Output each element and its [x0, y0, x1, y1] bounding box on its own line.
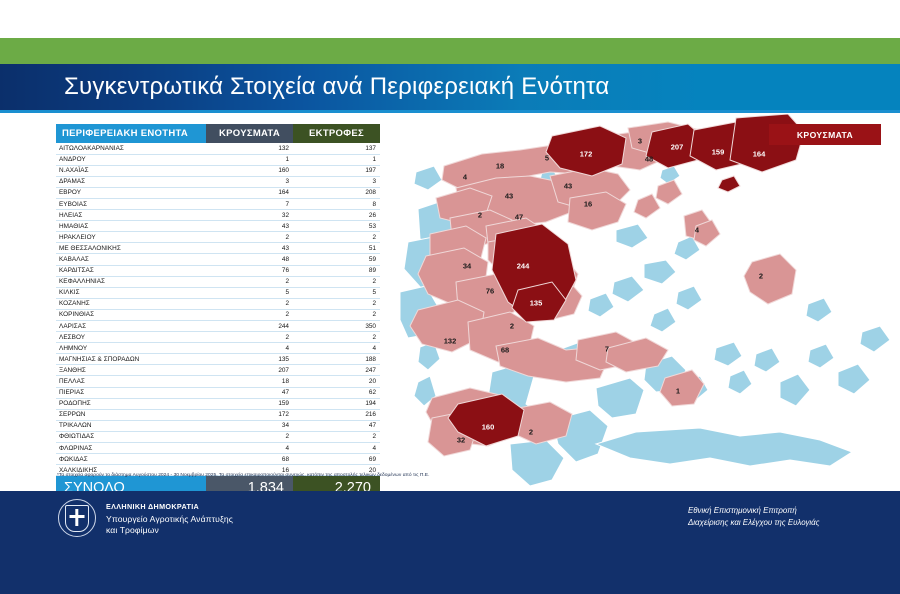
cell-region-name: ΗΜΑΘΙΑΣ	[56, 221, 206, 232]
legend-label: ΚΡΟΥΣΜΑΤΑ	[797, 130, 853, 140]
table-header: ΠΕΡΙΦΕΡΕΙΑΚΗ ΕΝΟΤΗΤΑ ΚΡΟΥΣΜΑΤΑ ΕΚΤΡΟΦΕΣ	[56, 124, 380, 143]
cell-cases: 5	[206, 287, 293, 298]
cell-cases: 34	[206, 420, 293, 431]
table-body: ΑΙΤΩΛΟΑΚΑΡΝΑΝΙΑΣ132137ΑΝΔΡΟΥ11Ν.ΑΧΑΪΑΣ16…	[56, 143, 380, 476]
cell-farms: 216	[293, 409, 380, 420]
cell-farms: 3	[293, 176, 380, 187]
cell-region-name: ΚΑΡΔΙΤΣΑΣ	[56, 265, 206, 276]
cell-cases: 172	[206, 409, 293, 420]
cell-region-name: ΑΝΔΡΟΥ	[56, 154, 206, 165]
column-header-farms: ΕΚΤΡΟΦΕΣ	[293, 124, 380, 143]
table-row: ΡΟΔΟΠΗΣ159194	[56, 398, 380, 409]
table-row: ΚΟΖΑΝΗΣ22	[56, 298, 380, 309]
cell-farms: 2	[293, 332, 380, 343]
cell-region-name: ΚΙΛΚΙΣ	[56, 287, 206, 298]
committee-line-1: Εθνική Επιστημονική Επιτροπή	[688, 505, 819, 517]
cell-cases: 135	[206, 354, 293, 365]
summary-table: ΠΕΡΙΦΕΡΕΙΑΚΗ ΕΝΟΤΗΤΑ ΚΡΟΥΣΜΑΤΑ ΕΚΤΡΟΦΕΣ …	[56, 124, 380, 500]
cell-region-name: ΜΑΓΝΗΣΙΑΣ & ΣΠΟΡΑΔΩΝ	[56, 354, 206, 365]
cell-cases: 48	[206, 254, 293, 265]
cell-cases: 18	[206, 376, 293, 387]
column-header-region: ΠΕΡΙΦΕΡΕΙΑΚΗ ΕΝΟΤΗΤΑ	[56, 124, 206, 143]
table-row: ΚΕΦΑΛΛΗΝΙΑΣ22	[56, 276, 380, 287]
cell-region-name: ΑΙΤΩΛΟΑΚΑΡΝΑΝΙΑΣ	[56, 143, 206, 154]
cell-farms: 2	[293, 298, 380, 309]
cell-farms: 2	[293, 309, 380, 320]
cell-farms: 197	[293, 165, 380, 176]
cell-farms: 137	[293, 143, 380, 154]
ministry-texts: ΕΛΛΗΝΙΚΗ ΔΗΜΟΚΡΑΤΙΑ Υπουργείο Αγροτικής …	[106, 499, 233, 536]
cell-cases: 7	[206, 198, 293, 209]
cell-region-name: ΛΗΜΝΟΥ	[56, 343, 206, 354]
cell-farms: 69	[293, 454, 380, 465]
table-row: ΗΜΑΘΙΑΣ4353	[56, 221, 380, 232]
page-footer: ΕΛΛΗΝΙΚΗ ΔΗΜΟΚΡΑΤΙΑ Υπουργείο Αγροτικής …	[0, 491, 900, 594]
cell-region-name: ΣΕΡΡΩΝ	[56, 409, 206, 420]
cell-region-name: ΛΑΡΙΣΑΣ	[56, 321, 206, 332]
cell-farms: 350	[293, 321, 380, 332]
cell-cases: 159	[206, 398, 293, 409]
cell-farms: 194	[293, 398, 380, 409]
cell-cases: 32	[206, 210, 293, 221]
cell-region-name: ΗΡΑΚΛΕΙΟΥ	[56, 232, 206, 243]
table-row: Ν.ΑΧΑΪΑΣ160197	[56, 165, 380, 176]
table-row: ΚΑΒΑΛΑΣ4859	[56, 254, 380, 265]
cell-cases: 244	[206, 321, 293, 332]
cell-cases: 2	[206, 332, 293, 343]
ministry-line-1: Υπουργείο Αγροτικής Ανάπτυξης	[106, 514, 233, 525]
table-header-row: ΠΕΡΙΦΕΡΕΙΑΚΗ ΕΝΟΤΗΤΑ ΚΡΟΥΣΜΑΤΑ ΕΚΤΡΟΦΕΣ	[56, 124, 380, 143]
table-row: ΜΕ ΘΕΣΣΑΛΟΝΙΚΗΣ4351	[56, 243, 380, 254]
cell-region-name: ΦΛΩΡΙΝΑΣ	[56, 443, 206, 454]
committee-line-2: Διαχείρισης και Ελέγχου της Ευλογιάς	[688, 517, 819, 529]
cell-cases: 2	[206, 309, 293, 320]
table-row: ΜΑΓΝΗΣΙΑΣ & ΣΠΟΡΑΔΩΝ135188	[56, 354, 380, 365]
table-row: ΦΩΚΙΔΑΣ6869	[56, 454, 380, 465]
ministry-block: ΕΛΛΗΝΙΚΗ ΔΗΜΟΚΡΑΤΙΑ Υπουργείο Αγροτικής …	[58, 499, 233, 537]
cell-region-name: ΡΟΔΟΠΗΣ	[56, 398, 206, 409]
map-legend-cases: ΚΡΟΥΣΜΑΤΑ	[769, 124, 881, 145]
cell-cases: 164	[206, 187, 293, 198]
greece-map: 3172207159164485184434316247434244276135…	[400, 114, 900, 489]
cell-cases: 1	[206, 154, 293, 165]
table-row: ΕΥΒΟΙΑΣ78	[56, 198, 380, 209]
cell-cases: 207	[206, 365, 293, 376]
table-row: ΑΙΤΩΛΟΑΚΑΡΝΑΝΙΑΣ132137	[56, 143, 380, 154]
republic-label: ΕΛΛΗΝΙΚΗ ΔΗΜΟΚΡΑΤΙΑ	[106, 502, 233, 511]
cell-farms: 4	[293, 343, 380, 354]
cell-cases: 2	[206, 298, 293, 309]
cell-farms: 2	[293, 276, 380, 287]
cell-farms: 208	[293, 187, 380, 198]
cell-cases: 2	[206, 276, 293, 287]
greece-map-svg	[400, 114, 900, 489]
cell-farms: 5	[293, 287, 380, 298]
cell-farms: 20	[293, 376, 380, 387]
cell-region-name: ΦΘΙΩΤΙΔΑΣ	[56, 431, 206, 442]
cell-region-name: ΠΕΛΛΑΣ	[56, 376, 206, 387]
cell-region-name: Ν.ΑΧΑΪΑΣ	[56, 165, 206, 176]
cell-farms: 47	[293, 420, 380, 431]
table-row: ΞΑΝΘΗΣ207247	[56, 365, 380, 376]
cell-region-name: ΤΡΙΚΑΛΩΝ	[56, 420, 206, 431]
cell-region-name: ΞΑΝΘΗΣ	[56, 365, 206, 376]
top-green-bar	[0, 38, 900, 64]
cell-cases: 76	[206, 265, 293, 276]
table-row: ΛΕΣΒΟΥ22	[56, 332, 380, 343]
cell-cases: 68	[206, 454, 293, 465]
table-row: ΚΙΛΚΙΣ55	[56, 287, 380, 298]
cell-farms: 26	[293, 210, 380, 221]
cell-farms: 247	[293, 365, 380, 376]
table-row: ΣΕΡΡΩΝ172216	[56, 409, 380, 420]
cell-region-name: ΚΑΒΑΛΑΣ	[56, 254, 206, 265]
table-row: ΦΘΙΩΤΙΔΑΣ22	[56, 431, 380, 442]
cell-region-name: ΔΡΑΜΑΣ	[56, 176, 206, 187]
table-row: ΠΙΕΡΙΑΣ4762	[56, 387, 380, 398]
cell-farms: 53	[293, 221, 380, 232]
cell-cases: 132	[206, 143, 293, 154]
table-row: ΔΡΑΜΑΣ33	[56, 176, 380, 187]
cell-region-name: ΗΛΕΙΑΣ	[56, 210, 206, 221]
cell-region-name: ΕΥΒΟΙΑΣ	[56, 198, 206, 209]
cell-farms: 89	[293, 265, 380, 276]
cell-region-name: ΚΕΦΑΛΛΗΝΙΑΣ	[56, 276, 206, 287]
table-row: ΛΑΡΙΣΑΣ244350	[56, 321, 380, 332]
table-row: ΠΕΛΛΑΣ1820	[56, 376, 380, 387]
column-header-cases: ΚΡΟΥΣΜΑΤΑ	[206, 124, 293, 143]
table-row: ΗΡΑΚΛΕΙΟΥ22	[56, 232, 380, 243]
cell-cases: 160	[206, 165, 293, 176]
greek-republic-emblem-icon	[58, 499, 96, 537]
cell-cases: 43	[206, 221, 293, 232]
cell-farms: 1	[293, 154, 380, 165]
table-row: ΛΗΜΝΟΥ44	[56, 343, 380, 354]
cell-region-name: ΦΩΚΙΔΑΣ	[56, 454, 206, 465]
cell-farms: 2	[293, 232, 380, 243]
cell-cases: 43	[206, 243, 293, 254]
cell-region-name: ΠΙΕΡΙΑΣ	[56, 387, 206, 398]
cell-farms: 62	[293, 387, 380, 398]
table-row: ΕΒΡΟΥ164208	[56, 187, 380, 198]
title-underline	[0, 110, 900, 113]
cell-farms: 8	[293, 198, 380, 209]
ministry-line-2: και Τροφίμων	[106, 525, 233, 536]
table-row: ΤΡΙΚΑΛΩΝ3447	[56, 420, 380, 431]
cell-region-name: ΚΟΖΑΝΗΣ	[56, 298, 206, 309]
page-title: Συγκεντρωτικά Στοιχεία ανά Περιφερειακή …	[64, 73, 609, 101]
table-row: ΚΟΡΙΝΘΙΑΣ22	[56, 309, 380, 320]
cell-region-name: ΜΕ ΘΕΣΣΑΛΟΝΙΚΗΣ	[56, 243, 206, 254]
summary-table-container: ΠΕΡΙΦΕΡΕΙΑΚΗ ΕΝΟΤΗΤΑ ΚΡΟΥΣΜΑΤΑ ΕΚΤΡΟΦΕΣ …	[56, 124, 380, 500]
cell-farms: 188	[293, 354, 380, 365]
committee-block: Εθνική Επιστημονική Επιτροπή Διαχείρισης…	[688, 505, 819, 528]
table-row: ΑΝΔΡΟΥ11	[56, 154, 380, 165]
cell-cases: 47	[206, 387, 293, 398]
cell-farms: 51	[293, 243, 380, 254]
cell-farms: 59	[293, 254, 380, 265]
cell-cases: 4	[206, 343, 293, 354]
cell-cases: 2	[206, 431, 293, 442]
cell-region-name: ΛΕΣΒΟΥ	[56, 332, 206, 343]
table-row: ΦΛΩΡΙΝΑΣ44	[56, 443, 380, 454]
cell-region-name: ΕΒΡΟΥ	[56, 187, 206, 198]
cell-farms: 2	[293, 431, 380, 442]
page-title-bar: Συγκεντρωτικά Στοιχεία ανά Περιφερειακή …	[0, 64, 900, 110]
cell-farms: 4	[293, 443, 380, 454]
cell-region-name: ΚΟΡΙΝΘΙΑΣ	[56, 309, 206, 320]
cell-cases: 3	[206, 176, 293, 187]
cell-cases: 4	[206, 443, 293, 454]
table-row: ΚΑΡΔΙΤΣΑΣ7689	[56, 265, 380, 276]
cell-cases: 2	[206, 232, 293, 243]
table-row: ΗΛΕΙΑΣ3226	[56, 210, 380, 221]
